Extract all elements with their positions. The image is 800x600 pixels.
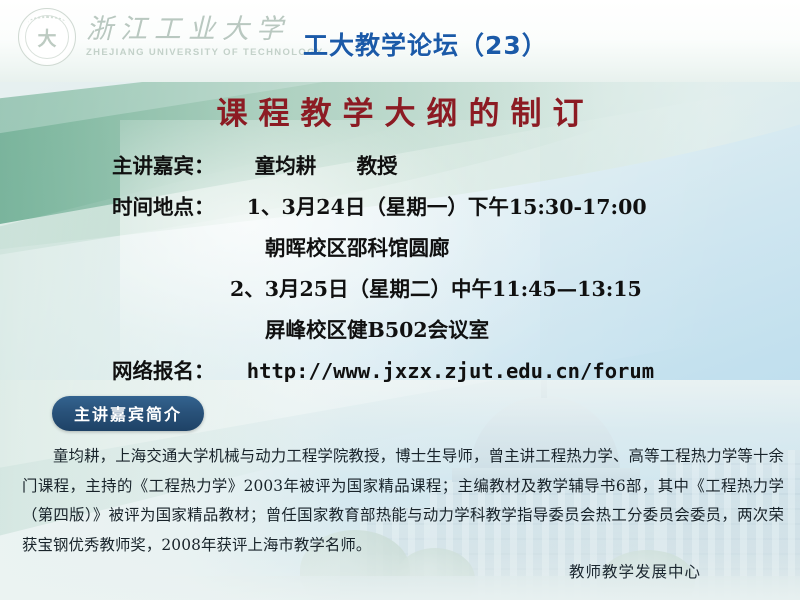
page-title: 课程教学大纲的制订 [0,88,800,133]
university-seal-icon: 大 [18,8,76,66]
session-1-place-row: 朝晖校区邵科馆圆廊 [0,228,800,269]
speaker-bio-text: 童均耕，上海交通大学机械与动力工程学院教授，博士生导师，曾主讲工程热力学、高等工… [22,442,784,560]
slide-header: 大 浙江工业大学 ZHEJIANG UNIVERSITY OF TECHNOLO… [0,0,800,82]
event-details: 主讲嘉宾： 童均耕 教授 时间地点： 1、3月24日（星期一）下午15:30-1… [0,146,800,392]
university-name-cn: 浙江工业大学 [86,16,324,44]
registration-row: 网络报名： http://www.jxzx.zjut.edu.cn/forum [0,351,800,392]
speaker-label: 主讲嘉宾： [112,154,215,178]
organizer-label: 教师教学发展中心 [569,560,701,582]
session-2-place: 屏峰校区健B502会议室 [265,318,489,342]
university-name-block: 浙江工业大学 ZHEJIANG UNIVERSITY OF TECHNOLOGY [86,16,324,57]
speaker-rank: 教授 [357,154,398,178]
speaker-row: 主讲嘉宾： 童均耕 教授 [0,146,800,187]
footer: 教师教学发展中心 [0,560,800,582]
session-1-time: 1、3月24日（星期一）下午15:30-17:00 [247,195,647,219]
session-2-place-row: 屏峰校区健B502会议室 [0,310,800,351]
session-2-time: 2、3月25日（星期二）中午11:45—13:15 [230,277,642,301]
schedule-row-1: 时间地点： 1、3月24日（星期一）下午15:30-17:00 [0,187,800,228]
slide-canvas: 大 浙江工业大学 ZHEJIANG UNIVERSITY OF TECHNOLO… [0,0,800,600]
speaker-name: 童均耕 [255,154,317,178]
schedule-row-2: 2、3月25日（星期二）中午11:45—13:15 [0,269,800,310]
registration-label: 网络报名： [112,359,215,383]
schedule-label: 时间地点： [112,195,215,219]
seal-glyph: 大 [19,9,75,65]
registration-url[interactable]: http://www.jxzx.zjut.edu.cn/forum [247,359,654,383]
university-name-en: ZHEJIANG UNIVERSITY OF TECHNOLOGY [86,47,324,58]
university-branding: 大 浙江工业大学 ZHEJIANG UNIVERSITY OF TECHNOLO… [18,8,324,66]
forum-series-title: 工大教学论坛（23） [303,26,548,62]
status-badge: 主讲嘉宾简介 [52,396,204,431]
session-1-place: 朝晖校区邵科馆圆廊 [265,236,450,260]
